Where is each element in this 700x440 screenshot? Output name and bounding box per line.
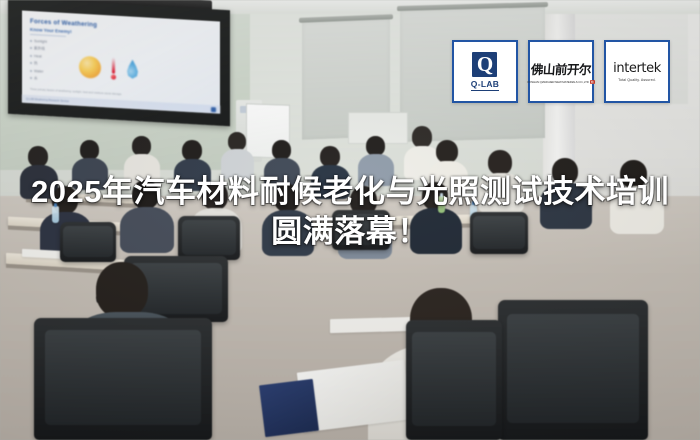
foshan-qiankaier-logo: 佛山前开尔 FOSHAN QIANKAIER NEW MATERIALS CO.… xyxy=(530,59,592,84)
attendee-head xyxy=(28,146,48,167)
seal-icon: 前 xyxy=(590,80,595,84)
thermometer-icon xyxy=(111,57,116,79)
poster-title-line-1: 2025年汽车材料耐候老化与光照测试技术培训 xyxy=(0,172,700,212)
office-chair xyxy=(34,318,212,440)
attendee-head xyxy=(272,140,291,160)
list-item: Sunlight xyxy=(30,39,74,45)
q-lab-badge-icon xyxy=(211,107,216,112)
attendee-head xyxy=(320,146,340,167)
poster-title: 2025年汽车材料耐候老化与光照测试技术培训 圆满落幕！ xyxy=(0,172,700,252)
attendee-head xyxy=(366,136,385,156)
sun-icon xyxy=(79,55,101,78)
q-lab-mark-icon: Q xyxy=(472,52,497,77)
slide-footer-text: Q-LAB Weathering Research Service xyxy=(26,97,69,102)
q-lab-wordmark: Q-LAB xyxy=(471,79,499,91)
foshan-qiankaier-subtitle-row: FOSHAN QIANKAIER NEW MATERIALS CO.,LTD 前 xyxy=(527,80,594,84)
logo-card-intertek: intertek Total Quality. Assured. xyxy=(604,40,670,103)
list-item: 紫外线 xyxy=(30,46,74,53)
q-lab-mark-letter: Q xyxy=(477,54,493,75)
event-recap-poster: Forces of Weathering Know Your Enemy! Su… xyxy=(0,0,700,440)
list-item: Water xyxy=(30,69,74,75)
office-chair xyxy=(498,300,648,440)
projector-screen-surface: Forces of Weathering Know Your Enemy! Su… xyxy=(22,10,220,113)
attendee-head xyxy=(412,126,432,148)
slide-body: Sunlight 紫外线 Heat 热 Water 水 xyxy=(30,39,212,94)
foshan-qiankaier-subtitle: FOSHAN QIANKAIER NEW MATERIALS CO.,LTD xyxy=(527,80,588,84)
water-drop-icon xyxy=(126,59,139,79)
list-item: 水 xyxy=(30,76,74,83)
attendee-head xyxy=(132,136,151,156)
slide-bullet-list: Sunlight 紫外线 Heat 热 Water 水 xyxy=(30,39,74,86)
list-item: Heat xyxy=(30,54,74,60)
attendee-head xyxy=(80,140,99,160)
list-item: 热 xyxy=(30,61,74,68)
attendee-head xyxy=(436,140,458,163)
intertek-logo: intertek Total Quality. Assured. xyxy=(606,61,668,82)
office-chair xyxy=(406,320,502,440)
intertek-wordmark: intertek xyxy=(613,61,661,76)
sponsor-logo-strip: Q Q-LAB 佛山前开尔 FOSHAN QIANKAIER NEW MATER… xyxy=(452,40,670,103)
poster-title-line-2: 圆满落幕！ xyxy=(0,212,700,252)
q-lab-logo: Q Q-LAB xyxy=(471,52,499,91)
training-handout-cover xyxy=(259,379,319,437)
slide-divider xyxy=(30,34,66,37)
thermometer-bulb xyxy=(111,74,116,79)
thermometer-stem xyxy=(112,57,114,73)
logo-card-foshan-qiankaier: 佛山前开尔 FOSHAN QIANKAIER NEW MATERIALS CO.… xyxy=(528,40,594,103)
presentation-slide: Forces of Weathering Know Your Enemy! Su… xyxy=(22,10,220,113)
intertek-tagline: Total Quality. Assured. xyxy=(618,78,656,82)
attendee-head xyxy=(182,140,202,161)
logo-card-q-lab: Q Q-LAB xyxy=(452,40,518,103)
slide-icon-row xyxy=(79,42,139,90)
attendee-head xyxy=(96,262,148,318)
foshan-qiankaier-wordmark: 佛山前开尔 xyxy=(530,59,591,78)
desk-papers xyxy=(330,317,414,333)
